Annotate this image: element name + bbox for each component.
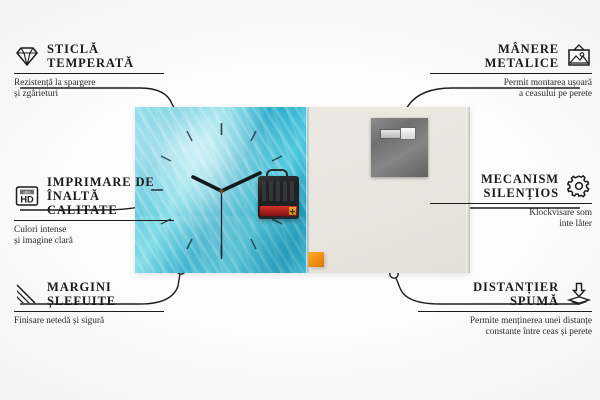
callout-metal-handles: MÂNERE METALICE Permit montarea ușoară a… <box>430 42 592 100</box>
callout-tempered-glass: STICLĂ TEMPERATĂ Rezistență la spargere … <box>14 42 164 100</box>
hanger-clip-tab <box>400 127 416 140</box>
callout-foam-spacer: DISTANȚIER SPUMĂ Permite menținerea unei… <box>418 280 592 338</box>
callout-title: MECANISM SILENȚIOS <box>481 172 559 200</box>
callout-desc: Klockvisare som inte låter <box>430 208 592 230</box>
callout-title: MARGINI ȘLEFUITE <box>47 280 116 308</box>
metal-hanger-plate <box>371 118 428 177</box>
callout-rule <box>14 311 164 312</box>
callout-rule <box>14 220 174 221</box>
callout-desc: Permit montarea ușoară a ceasului pe per… <box>430 78 592 100</box>
callout-desc: Culori intense și imagine clară <box>14 225 174 247</box>
product-photo <box>135 107 470 273</box>
svg-text:HD: HD <box>20 195 34 205</box>
callout-rule <box>14 73 164 74</box>
press-down-layers-icon <box>566 282 592 306</box>
battery <box>260 206 297 216</box>
gear-icon <box>566 174 592 198</box>
callout-desc: Permite menținerea unei distanțe constan… <box>418 316 592 338</box>
callout-desc: Finisare netedă și sigură <box>14 316 164 327</box>
callout-rule <box>430 203 592 204</box>
mechanism-texture <box>262 181 295 201</box>
foam-spacer-part <box>308 252 324 267</box>
clock-mechanism <box>258 176 299 219</box>
battery-plus-terminal <box>289 207 296 215</box>
product-feature-infographic: STICLĂ TEMPERATĂ Rezistență la spargere … <box>0 0 600 400</box>
ultra-hd-icon: ultra HD <box>14 184 40 208</box>
callout-title: IMPRIMARE DE ÎNALTĂ CALITATE <box>47 175 174 217</box>
glass-panel-edge <box>306 107 309 273</box>
callout-title: DISTANȚIER SPUMĂ <box>473 280 559 308</box>
hanger-clip-bar <box>380 129 411 139</box>
diamond-icon <box>14 44 40 68</box>
callout-rule <box>430 73 592 74</box>
callout-high-quality-print: ultra HD IMPRIMARE DE ÎNALTĂ CALITATE Cu… <box>14 175 174 247</box>
callout-title: STICLĂ TEMPERATĂ <box>47 42 134 70</box>
beveled-edge-icon <box>14 282 40 306</box>
callout-title: MÂNERE METALICE <box>485 42 559 70</box>
callout-rule <box>418 311 592 312</box>
callout-polished-edges: MARGINI ȘLEFUITE Finisare netedă și sigu… <box>14 280 164 327</box>
callout-silent-mechanism: MECANISM SILENȚIOS Klockvisare som inte … <box>430 172 592 230</box>
callout-desc: Rezistență la spargere și zgârieturi <box>14 78 164 100</box>
hanging-picture-icon <box>566 44 592 68</box>
